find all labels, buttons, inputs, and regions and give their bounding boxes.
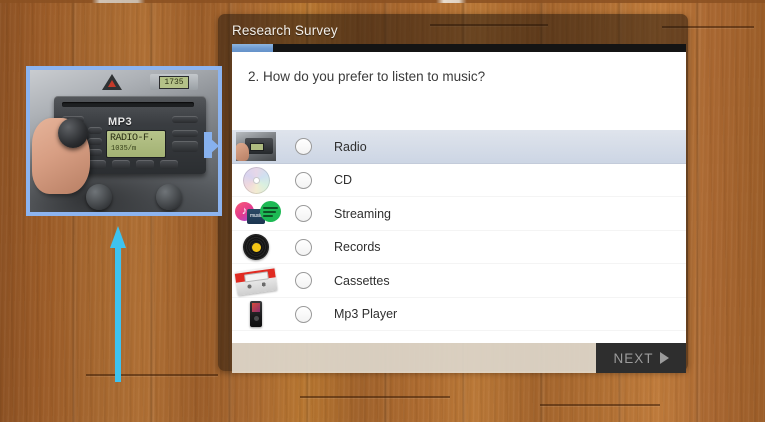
option-row-streaming[interactable]: ♪ music Streaming (232, 197, 686, 231)
radio-button-cd[interactable] (295, 172, 312, 189)
next-button[interactable]: NEXT (596, 343, 686, 373)
radio-button-mp3-player[interactable] (295, 306, 312, 323)
progress-bar-fill (232, 44, 273, 52)
option-label-cd: CD (334, 173, 352, 187)
head-unit-brand-text: MP3 (108, 116, 132, 128)
annotation-arrow-up-icon (110, 226, 126, 382)
climate-dial-left (86, 184, 112, 210)
radio-button-cassettes[interactable] (295, 272, 312, 289)
radio-button-records[interactable] (295, 239, 312, 256)
top-edge-sliver (0, 0, 765, 3)
car-radio-thumb-icon (234, 131, 278, 162)
next-button-label: NEXT (613, 351, 653, 366)
radio-button-radio[interactable] (295, 138, 312, 155)
cd-slot (62, 102, 194, 107)
screenshot-root: Research Survey 2. How do you prefer to … (0, 0, 765, 422)
progress-bar-track (232, 44, 686, 52)
option-row-mp3-player[interactable]: Mp3 Player (232, 298, 686, 332)
car-radio-preview[interactable]: 1735 MP3 RADIO-F. 10 (26, 66, 222, 216)
cassette-tape-thumb-icon (234, 265, 278, 296)
question-card: 2. How do you prefer to listen to music? (232, 52, 686, 130)
radio-button-streaming[interactable] (295, 205, 312, 222)
option-label-streaming: Streaming (334, 207, 391, 221)
radio-display-text: RADIO-F. (110, 133, 154, 144)
dash-clock: 1735 (150, 74, 198, 90)
option-label-mp3-player: Mp3 Player (334, 307, 397, 321)
radio-lcd-display: RADIO-F. 1035/m (106, 130, 166, 158)
survey-footer: NEXT (232, 343, 686, 373)
option-row-records[interactable]: Records (232, 231, 686, 265)
option-row-cd[interactable]: CD (232, 164, 686, 198)
volume-knob (58, 118, 88, 148)
survey-title: Research Survey (232, 23, 338, 38)
options-list: Radio CD ♪ music (232, 130, 686, 343)
mp3-player-thumb-icon (234, 299, 278, 330)
streaming-apps-thumb-icon: ♪ music (234, 198, 278, 229)
dash-clock-text: 1735 (159, 76, 189, 89)
option-label-cassettes: Cassettes (334, 274, 390, 288)
option-label-radio: Radio (334, 140, 367, 154)
radio-display-sub-text: 1035/m (111, 145, 136, 153)
survey-panel: Research Survey 2. How do you prefer to … (218, 14, 688, 371)
option-row-cassettes[interactable]: Cassettes (232, 264, 686, 298)
option-label-records: Records (334, 240, 381, 254)
row-pointer-triangle-icon (210, 138, 219, 154)
play-triangle-icon (660, 352, 669, 364)
compact-disc-thumb-icon (234, 165, 278, 196)
climate-dial-right (156, 184, 182, 210)
question-text: 2. How do you prefer to listen to music? (248, 69, 485, 84)
vinyl-record-thumb-icon (234, 232, 278, 263)
car-dashboard-image: 1735 MP3 RADIO-F. 10 (30, 70, 218, 212)
option-row-radio[interactable]: Radio (232, 130, 686, 164)
